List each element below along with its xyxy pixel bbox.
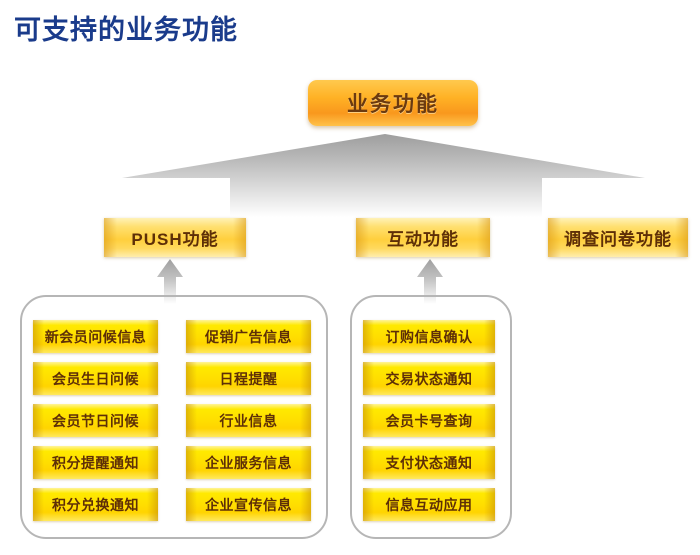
list-item-label: 会员生日问候 xyxy=(52,369,139,389)
category-interact[interactable]: 互动功能 xyxy=(356,218,490,257)
list-item-label: 支付状态通知 xyxy=(386,453,473,473)
list-item[interactable]: 信息互动应用 xyxy=(363,488,495,521)
list-item[interactable]: 企业宣传信息 xyxy=(186,488,311,521)
node-root[interactable]: 业务功能 xyxy=(308,80,478,126)
list-item-label: 企业服务信息 xyxy=(205,453,292,473)
list-item[interactable]: 积分提醒通知 xyxy=(33,446,158,479)
list-item[interactable]: 新会员问候信息 xyxy=(33,320,158,353)
list-item[interactable]: 行业信息 xyxy=(186,404,311,437)
node-root-label: 业务功能 xyxy=(347,88,439,118)
list-item[interactable]: 会员节日问候 xyxy=(33,404,158,437)
list-item[interactable]: 支付状态通知 xyxy=(363,446,495,479)
list-item-label: 交易状态通知 xyxy=(386,369,473,389)
list-item-label: 会员卡号查询 xyxy=(386,411,473,431)
list-item-label: 行业信息 xyxy=(220,411,278,431)
list-item-label: 订购信息确认 xyxy=(386,327,473,347)
list-item[interactable]: 日程提醒 xyxy=(186,362,311,395)
slide-canvas: 可支持的业务功能 业务功能 PUSH功能 互动功能 调查问卷功能 xyxy=(0,0,700,555)
list-item-label: 日程提醒 xyxy=(220,369,278,389)
list-item[interactable]: 促销广告信息 xyxy=(186,320,311,353)
category-push-label: PUSH功能 xyxy=(131,225,218,250)
page-title: 可支持的业务功能 xyxy=(14,8,238,47)
list-item[interactable]: 积分兑换通知 xyxy=(33,488,158,521)
list-item[interactable]: 企业服务信息 xyxy=(186,446,311,479)
list-item[interactable]: 会员卡号查询 xyxy=(363,404,495,437)
list-item[interactable]: 订购信息确认 xyxy=(363,320,495,353)
list-item[interactable]: 会员生日问候 xyxy=(33,362,158,395)
list-item-label: 企业宣传信息 xyxy=(205,495,292,515)
category-survey[interactable]: 调查问卷功能 xyxy=(548,218,688,257)
list-item[interactable]: 交易状态通知 xyxy=(363,362,495,395)
list-item-label: 促销广告信息 xyxy=(205,327,292,347)
list-item-label: 信息互动应用 xyxy=(386,495,473,515)
list-item-label: 积分提醒通知 xyxy=(52,453,139,473)
list-item-label: 会员节日问候 xyxy=(52,411,139,431)
list-item-label: 积分兑换通知 xyxy=(52,495,139,515)
category-survey-label: 调查问卷功能 xyxy=(564,225,672,250)
roof-chevron-connector xyxy=(0,120,700,230)
category-interact-label: 互动功能 xyxy=(387,225,459,250)
list-item-label: 新会员问候信息 xyxy=(45,327,147,347)
category-push[interactable]: PUSH功能 xyxy=(104,218,246,257)
